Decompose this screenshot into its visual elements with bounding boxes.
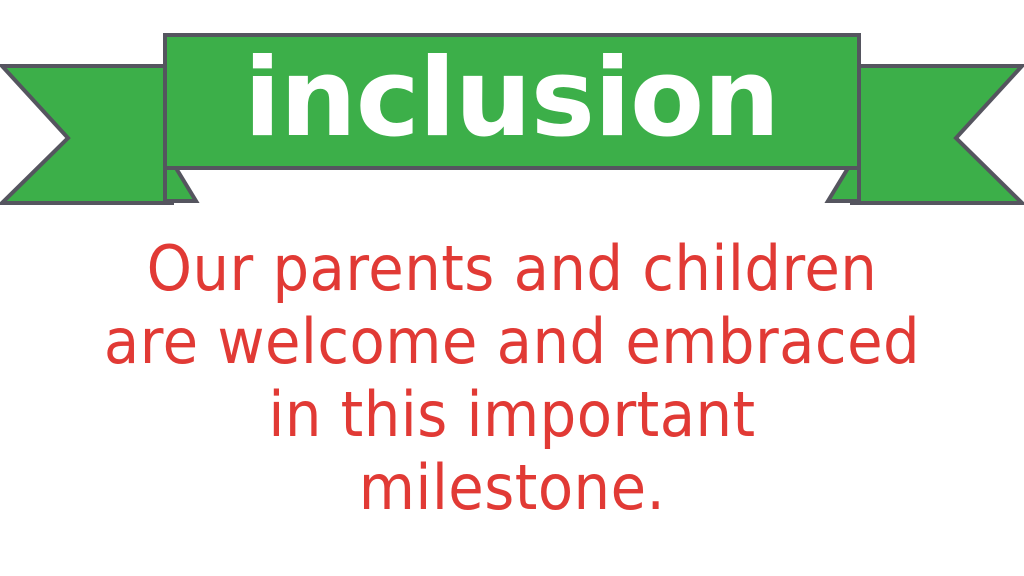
ribbon-right-tail: [852, 66, 1022, 203]
message-block: Our parents and children are welcome and…: [0, 232, 1024, 524]
message-line: Our parents and children: [36, 232, 988, 305]
ribbon-left-tail: [2, 66, 172, 203]
message-line: in this important: [36, 378, 988, 451]
ribbon-banner: inclusion: [0, 0, 1024, 215]
message-line: milestone.: [36, 451, 988, 524]
message-line: are welcome and embraced: [36, 305, 988, 378]
poster-canvas: inclusion Our parents and children are w…: [0, 0, 1024, 576]
banner-title: inclusion: [165, 35, 858, 168]
